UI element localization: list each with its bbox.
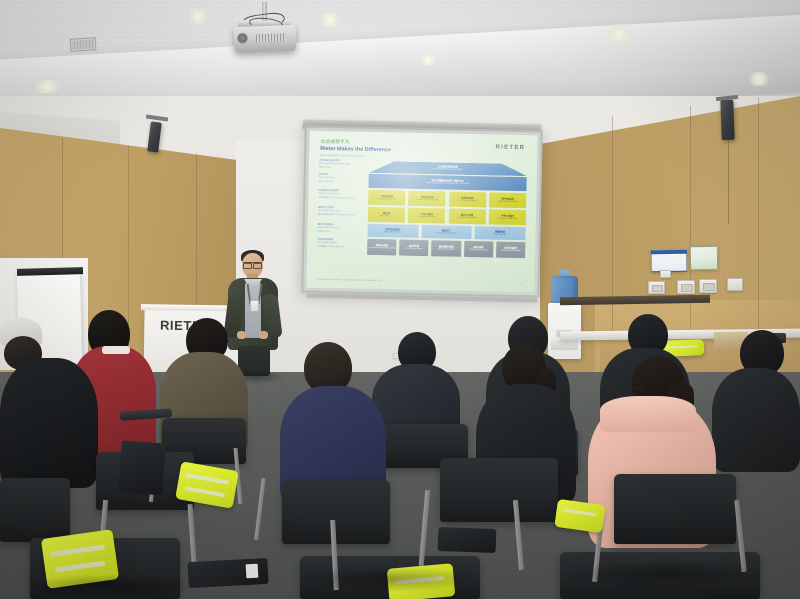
chair[interactable]	[282, 480, 390, 544]
light-switch-rocker[interactable]	[652, 285, 663, 292]
bag-label	[246, 564, 259, 579]
presenter-hand-right	[259, 331, 268, 339]
slide-row-label-2: 纺纱准备与关键部件 Spinning preparation 与关键部件 / C…	[318, 190, 366, 201]
ceiling-downlight-6	[746, 72, 772, 86]
ceiling-downlight-3	[604, 24, 634, 43]
slide-row-cells-3: 清梳联 Blow Room Line 并条与精梳 Drawing and Com…	[368, 207, 526, 225]
slide-cell: 培训与咨询 Training and Consulting	[496, 242, 525, 259]
conference-room-photo: 立达成就不凡 Rieter Makes the Difference Riete…	[0, 0, 800, 599]
ceiling-downlight-4	[30, 80, 64, 93]
vest-reflective-strip	[562, 509, 596, 517]
slide-row-label-0: 立达系统与技术优势 Rieter systems and technology …	[319, 160, 367, 171]
slide-cell: 粗纱与络筒 Roving and Winding	[448, 209, 485, 225]
vest-reflective-strip	[51, 544, 105, 556]
slide-cell: 环锭纺系统 Ring Spinning System	[368, 190, 405, 206]
backpack-floor-left[interactable]	[118, 441, 166, 496]
floor-shadow-center	[290, 566, 480, 592]
slide-subtitle: Rieter Systems & Technology Overview	[320, 153, 365, 157]
ceiling-downlight-5	[418, 54, 438, 66]
water-dispenser-panel	[551, 340, 578, 350]
slide-diagram: 立达系统与技术优势 Rieter systems and technology …	[317, 160, 527, 277]
slide-title-chinese: 立达成就不凡	[320, 139, 349, 146]
slide-row-label-5: 全方位售后服务 After sales services 立达服务 / Riet…	[317, 239, 365, 250]
slide-row-cells-2: 环锭纺系统 Ring Spinning System 紧密纺系统 Compact…	[368, 190, 526, 208]
slide-row-cells-1: 四大终端纺纱系统 / 四种工艺 Rieter is the leading te…	[368, 174, 526, 191]
chair[interactable]	[440, 458, 558, 522]
slide-cell: 专件与器材 Components and Parts	[489, 209, 526, 225]
slide-row-label-3: 关键工艺与部件 Key process and parts 技术与服务支持 / …	[318, 207, 366, 218]
slide-cell: 安装与调试 Installation and Commissioning	[367, 239, 397, 256]
slide-cell: 数字纺纱套件 Digital Spinning Suite	[367, 224, 418, 238]
vest-reflective-strip	[185, 473, 229, 485]
wall-socket-small[interactable]	[660, 270, 671, 278]
attendee-pink-puffer-glasses-icon	[630, 382, 642, 389]
slide-title-english: Rieter Makes the Difference	[320, 146, 391, 153]
chair[interactable]	[614, 474, 736, 544]
attendee-pink-puffer-hood	[600, 396, 696, 432]
attendee-white-cap-body	[0, 358, 98, 488]
light-switch-rocker[interactable]	[681, 284, 693, 292]
slide-row-label-4: 数字化与智能化 Digital and smart mill ESSENTIAL	[318, 224, 366, 235]
slide-row-cells-5: 安装与调试 Installation and Commissioning 技术升…	[367, 239, 525, 258]
light-switch-panel-1[interactable]	[648, 281, 665, 294]
slide-cell: 四大终端纺纱系统 / 四种工艺 Rieter is the leading te…	[368, 174, 526, 191]
slide-content: 立达成就不凡 Rieter Makes the Difference Riete…	[313, 136, 532, 286]
light-switch-panel-4[interactable]	[727, 278, 743, 291]
slide-cell: 备品备件供应 Spare Parts Supply	[432, 240, 462, 257]
slide-cell: 数据分析 Data Analytics	[475, 226, 526, 240]
slide-cell: 转杯纺系统 Rotor Spinning System	[449, 192, 486, 208]
ceiling-downlight-1	[185, 8, 211, 24]
slide-cell: 维护保养 Maintenance Service	[464, 241, 494, 258]
light-switch-panel-3[interactable]	[699, 279, 717, 293]
slide-row-label-1: 纺纱系统 4 End Spinning 系统 / Systems	[319, 174, 367, 185]
slide-footer: Rieter Makes the Difference | Customer P…	[318, 279, 382, 282]
slide-cell: 智能工厂 Smart Mill Management	[421, 225, 472, 239]
slide-page-number: 12	[520, 283, 522, 285]
presenter-hand-left	[237, 331, 246, 339]
bag-under-chair-center[interactable]	[438, 527, 497, 553]
wall-speaker-right	[720, 100, 734, 140]
projection-screen-surface: 立达成就不凡 Rieter Makes the Difference Riete…	[306, 131, 537, 293]
presenter-badge	[250, 300, 259, 312]
wall-notice-blue	[651, 249, 687, 273]
projector-lens-icon	[237, 33, 248, 44]
slide-cell: 紧密纺系统 Compact Spinning System	[408, 191, 445, 207]
slide-cell: 并条与精梳 Drawing and Combing	[408, 208, 445, 224]
slide-row-cells-4: 数字纺纱套件 Digital Spinning Suite 智能工厂 Smart…	[367, 224, 525, 240]
attendee-red-sweater-collar	[102, 346, 130, 354]
floor-shadow-right	[560, 560, 770, 588]
slide-cell: 喷气纺系统 Air-jet Spinning System	[489, 192, 526, 208]
ceiling-projector	[234, 25, 297, 53]
attendee-far-right-body	[712, 368, 800, 472]
light-switch-rocker[interactable]	[703, 283, 715, 291]
projector-vent	[256, 33, 286, 42]
floor-shadow-left	[20, 574, 200, 598]
vest-reflective-strip	[55, 561, 105, 573]
vest-reflective-strip	[185, 486, 225, 497]
light-switch-panel-2[interactable]	[677, 280, 695, 294]
wall-notice-green	[690, 246, 718, 270]
presenter-glasses-icon	[243, 262, 262, 266]
ceiling-vent-left	[70, 37, 97, 52]
projection-screen: 立达成就不凡 Rieter Makes the Difference Riete…	[301, 126, 542, 298]
rieter-logo-slide: RIETER	[495, 145, 525, 152]
ceiling-downlight-2	[318, 12, 342, 27]
chair[interactable]	[0, 478, 70, 542]
slide-cell: 清梳联 Blow Room Line	[368, 207, 405, 223]
slide-cell: 技术升级 Technology Upgrade	[399, 240, 429, 257]
vest-reflective-strip	[666, 345, 698, 348]
speaker-cable-right	[728, 140, 729, 224]
